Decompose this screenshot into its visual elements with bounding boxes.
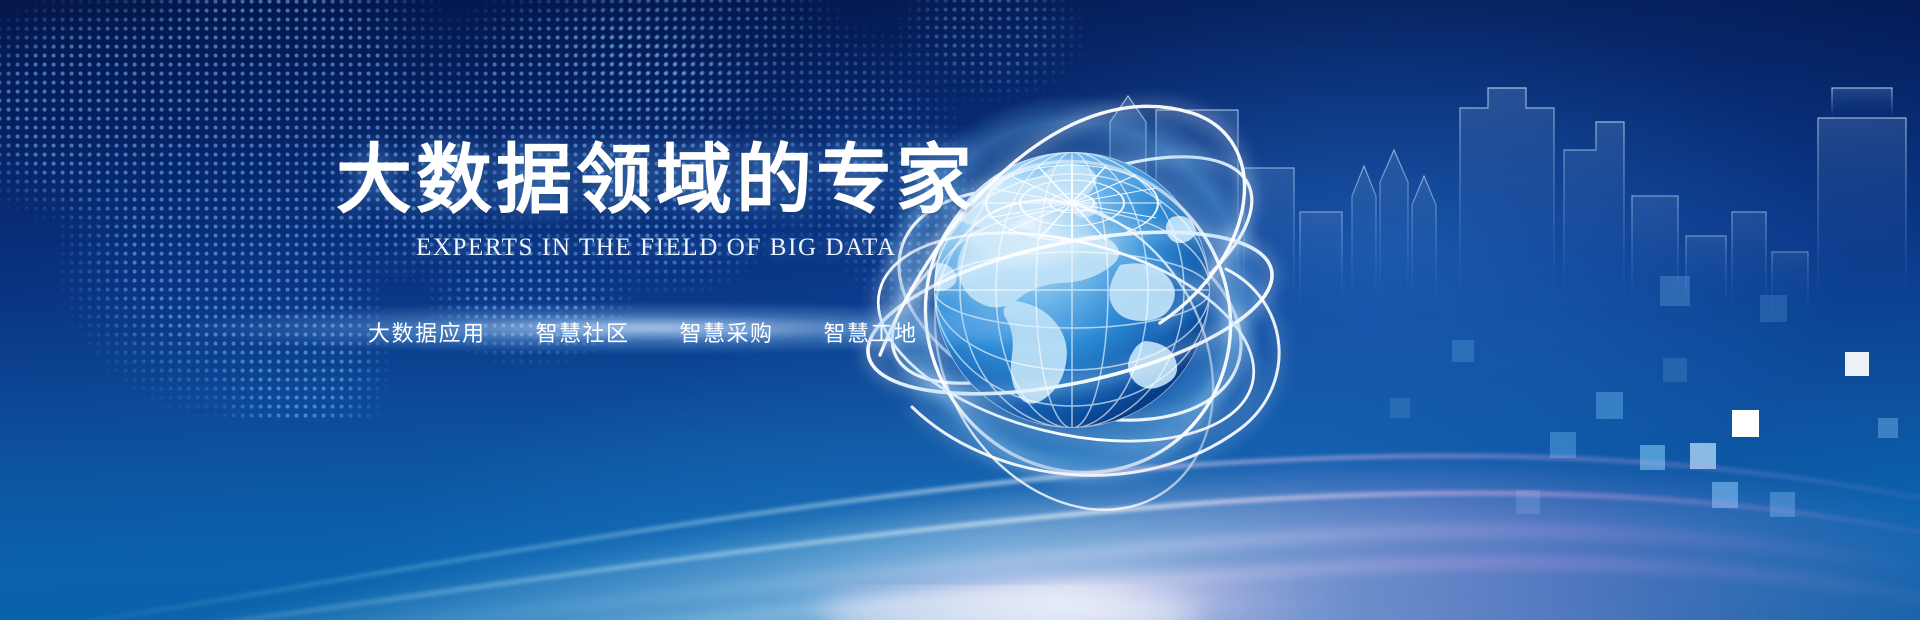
decorative-square xyxy=(1690,443,1716,469)
nav-item-smart-community[interactable]: 智慧社区 xyxy=(536,316,630,348)
decorative-square xyxy=(1390,398,1410,418)
page-title: 大数据领域的专家 xyxy=(336,142,956,218)
decorative-square xyxy=(1770,492,1795,517)
nav-item-smart-construction[interactable]: 智慧工地 xyxy=(824,316,918,348)
decorative-square xyxy=(1452,340,1474,362)
decorative-square xyxy=(1878,418,1898,438)
city-skyline-graphic xyxy=(960,0,1920,330)
decorative-square xyxy=(1732,410,1759,437)
decorative-square xyxy=(1760,295,1787,322)
page-subtitle: EXPERTS IN THE FIELD OF BIG DATA xyxy=(416,234,956,262)
decorative-square xyxy=(1845,352,1869,376)
decorative-square xyxy=(1550,432,1576,458)
decorative-square xyxy=(1663,358,1687,382)
nav-item-big-data-application[interactable]: 大数据应用 xyxy=(368,316,486,348)
decorative-square xyxy=(1660,276,1690,306)
decorative-square xyxy=(1712,482,1738,508)
banner-content: 大数据领域的专家 EXPERTS IN THE FIELD OF BIG DAT… xyxy=(336,142,956,348)
decorative-square xyxy=(1516,490,1540,514)
floating-squares-graphic xyxy=(0,0,1920,620)
banner-root: 大数据领域的专家 EXPERTS IN THE FIELD OF BIG DAT… xyxy=(0,0,1920,620)
decorative-square xyxy=(1640,445,1665,470)
aurora-light-streaks-graphic xyxy=(0,370,1920,620)
decorative-square xyxy=(1596,392,1623,419)
banner-nav: 大数据应用 智慧社区 智慧采购 智慧工地 xyxy=(368,316,956,348)
nav-item-smart-procurement[interactable]: 智慧采购 xyxy=(680,316,774,348)
